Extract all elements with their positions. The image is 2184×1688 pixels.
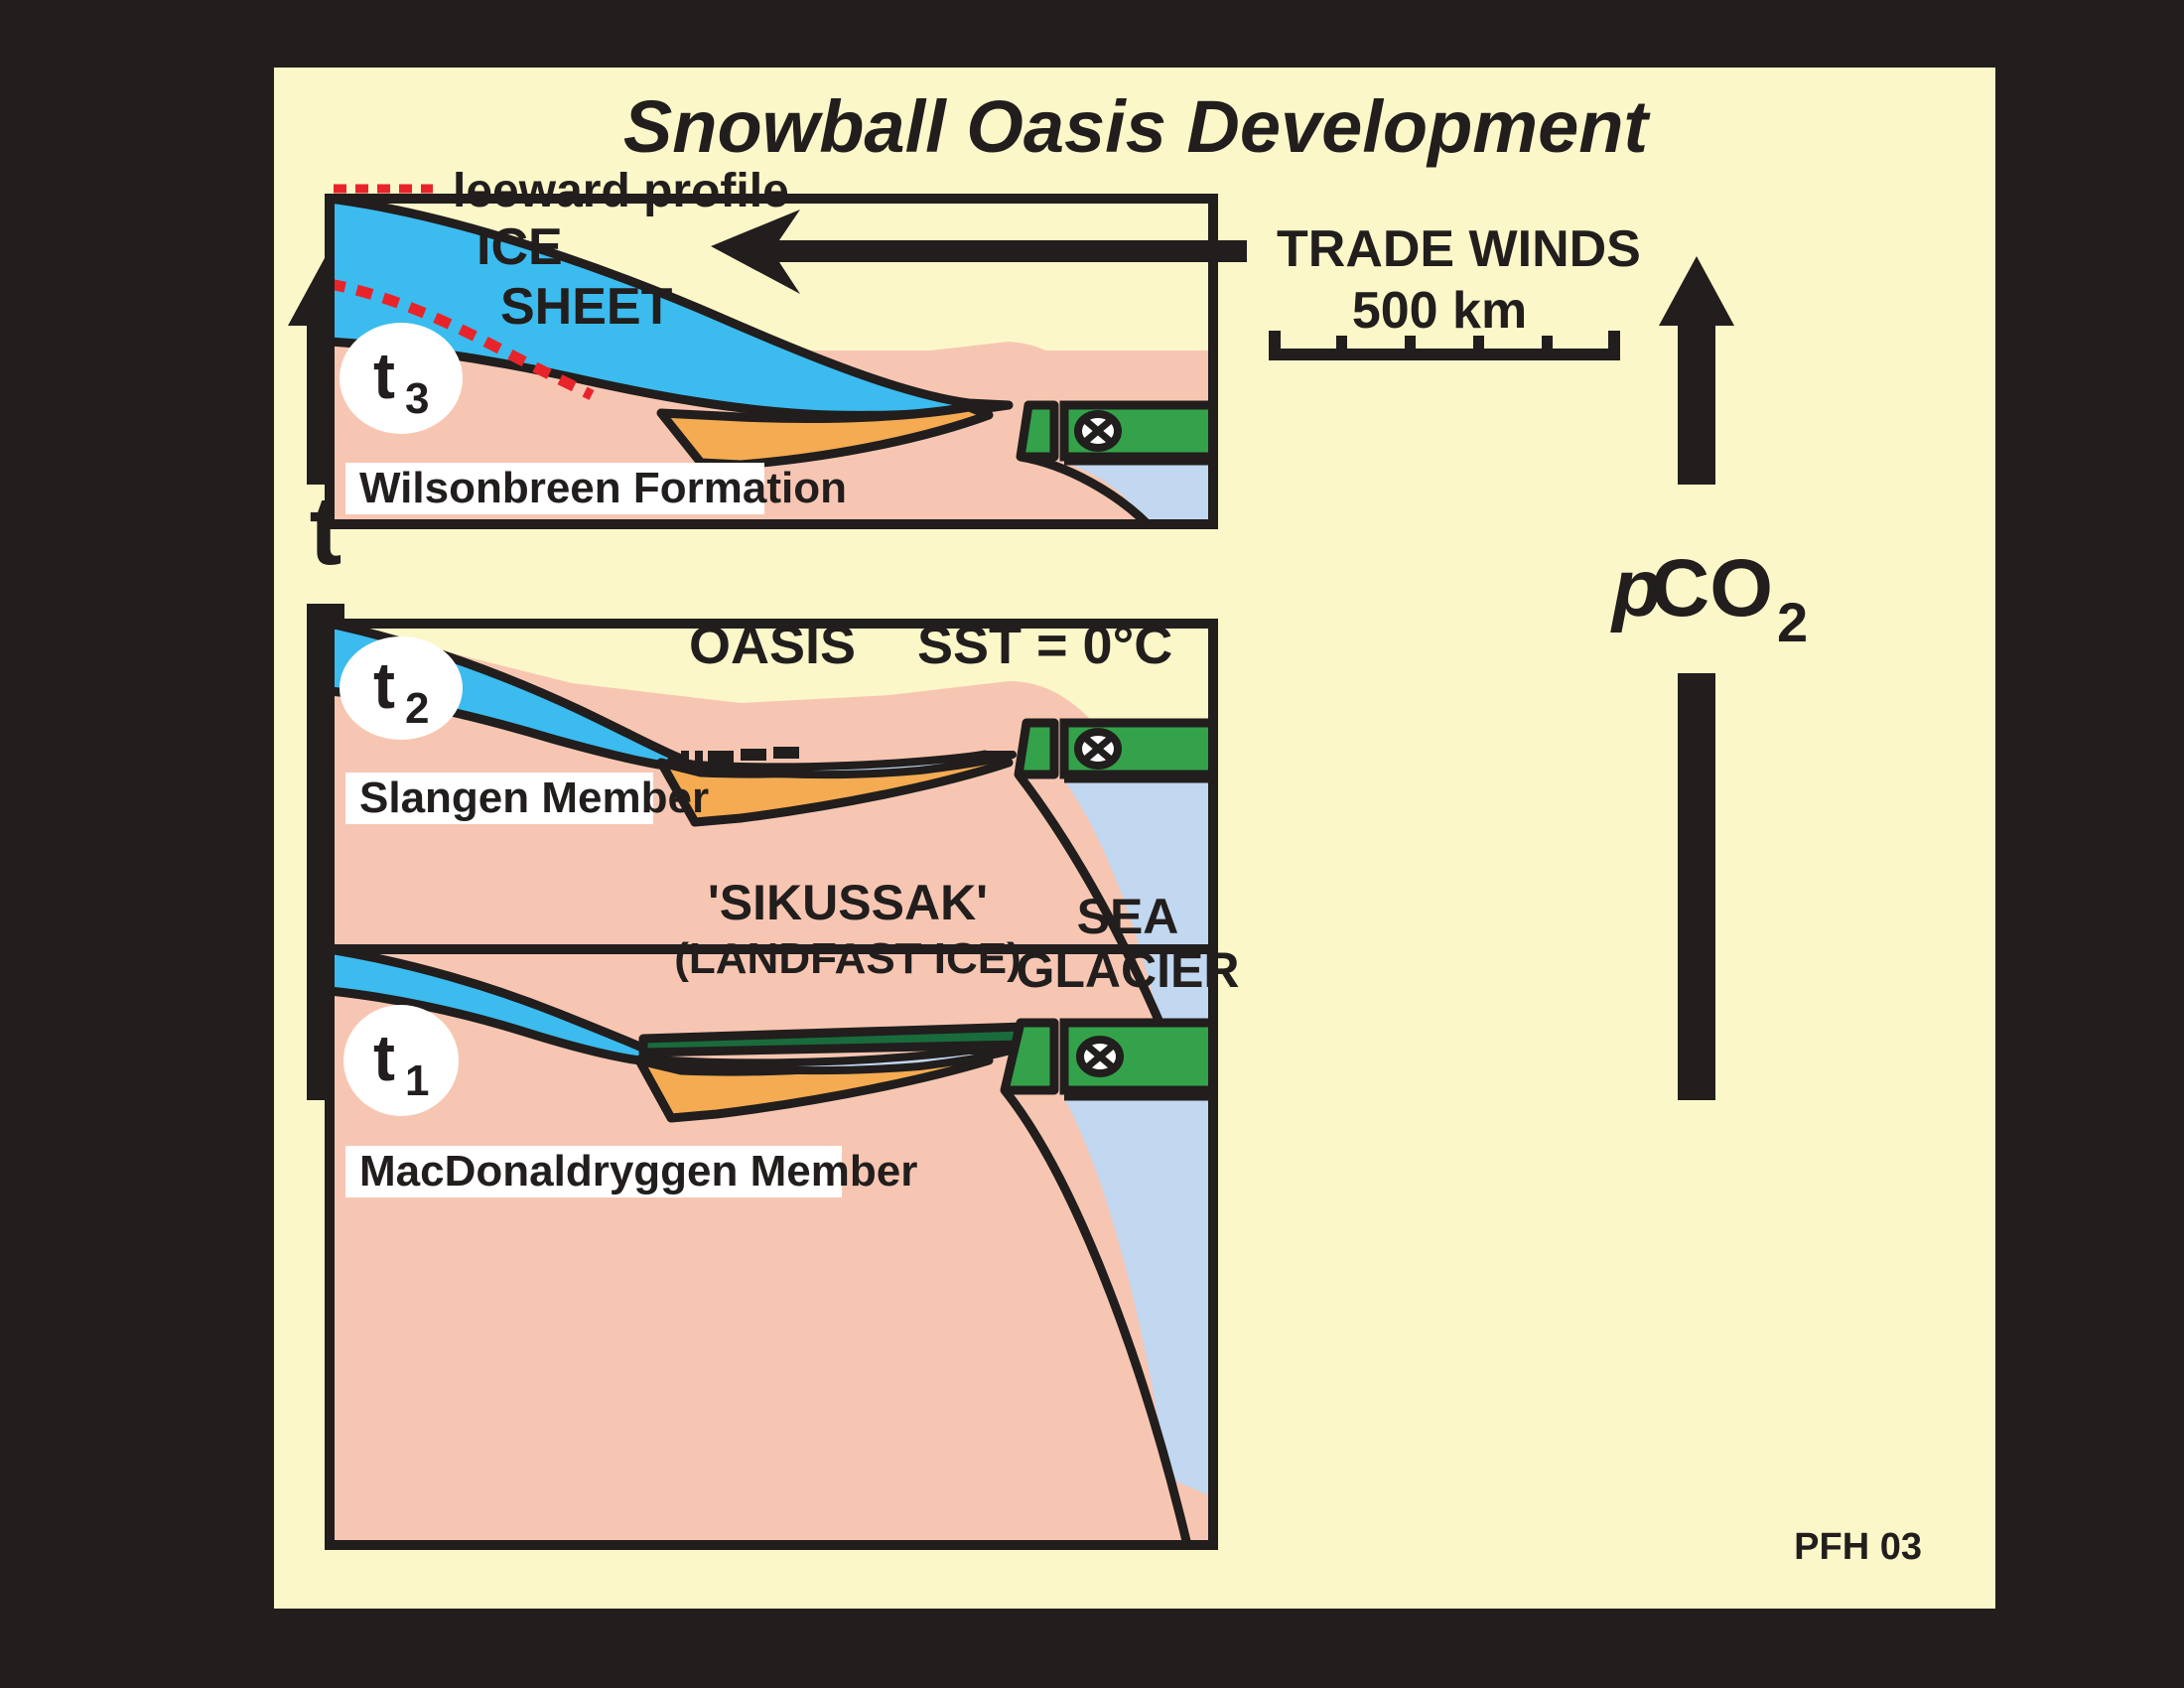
sikussak-line2: (LANDFAST ICE) <box>674 934 1022 983</box>
figure-panel: Snowball Oasis Development leeward profi… <box>274 68 1995 1609</box>
t3-ice-sheet-line2: SHEET <box>500 278 673 336</box>
t3-formation-label: Wilsonbreen Formation <box>359 464 847 512</box>
t2-ice-fragment-4 <box>773 747 799 759</box>
pco2-axis: p CO 2 <box>1610 256 1808 1100</box>
t3-time-marker: t 3 <box>340 323 463 434</box>
t2-flow-symbol <box>1078 732 1118 766</box>
scale-bar-baseline <box>1269 349 1620 360</box>
scale-bar-tick-4 <box>1542 336 1553 360</box>
t2-ice-fragment-0 <box>681 751 689 773</box>
scale-bar-label: 500 km <box>1352 282 1527 340</box>
trade-winds-label: TRADE WINDS <box>1277 220 1641 278</box>
snowball-oasis-diagram: Snowball Oasis Development leeward profi… <box>274 68 1995 1609</box>
scale-bar: 500 km <box>1269 282 1620 360</box>
t2-time-label-base: t <box>373 648 395 722</box>
scale-bar-tick-1 <box>1336 336 1347 360</box>
t1-flow-symbol <box>1080 1040 1120 1073</box>
t2-formation-label: Slangen Member <box>359 774 709 822</box>
figure-stage: Snowball Oasis Development leeward profi… <box>0 0 2184 1688</box>
t1-time-label-base: t <box>373 1021 395 1094</box>
figure-title: Snowball Oasis Development <box>623 85 1652 168</box>
scale-bar-tick-2 <box>1405 336 1416 360</box>
t2-time-bubble <box>340 636 463 740</box>
oasis-label: OASIS <box>689 616 856 675</box>
sikussak-line1: 'SIKUSSAK' <box>708 875 988 930</box>
t2-ice-fragment-3 <box>741 749 766 761</box>
t1-time-label-sub: 1 <box>405 1056 429 1105</box>
scale-bar-tick-5 <box>1608 331 1620 360</box>
t2-time-marker: t 2 <box>340 636 463 740</box>
sea-glacier-line1: SEA <box>1077 889 1179 944</box>
pco2-label-sub: 2 <box>1777 591 1808 653</box>
leeward-profile-label: leeward profile <box>453 165 789 217</box>
t3-sea-glacier-inner <box>1021 405 1054 457</box>
sst-label: SST = 0°C <box>917 616 1172 675</box>
t1-formation-label-group: MacDonaldryggen Member <box>345 1146 917 1197</box>
scale-bar-tick-3 <box>1473 336 1484 360</box>
t3-time-label-sub: 3 <box>405 374 429 423</box>
sikussak-annotation: 'SIKUSSAK' (LANDFAST ICE) <box>674 875 1022 983</box>
t2-ice-fragment-2 <box>708 751 734 763</box>
t1-formation-label: MacDonaldryggen Member <box>359 1147 917 1196</box>
t3-time-label-base: t <box>373 339 395 412</box>
figure-credit: PFH 03 <box>1794 1526 1922 1568</box>
panel-t1: t 1 MacDonaldryggen Member 'SIKUSSAK' (L… <box>330 875 1240 1545</box>
pco2-axis-label: p CO 2 <box>1610 543 1808 653</box>
t2-formation-label-group: Slangen Member <box>345 773 709 824</box>
trade-winds-arrow <box>711 210 1247 294</box>
t2-time-label-sub: 2 <box>405 684 429 733</box>
t2-ice-fragment-1 <box>695 751 703 773</box>
t3-formation-label-group: Wilsonbreen Formation <box>345 463 847 514</box>
t3-flow-symbol <box>1078 414 1118 448</box>
t1-time-marker: t 1 <box>343 1005 459 1116</box>
pco2-label-main: CO <box>1651 543 1773 633</box>
scale-bar-tick-0 <box>1269 331 1281 360</box>
sea-glacier-line2: GLACIER <box>1017 942 1240 998</box>
pco2-axis-shaft-upper <box>1678 326 1715 485</box>
pco2-axis-shaft-lower <box>1678 673 1715 1100</box>
t1-time-bubble <box>343 1005 459 1116</box>
t2-sea-glacier-inner <box>1019 723 1054 774</box>
t3-ice-sheet-line1: ICE <box>477 218 563 276</box>
t3-time-bubble <box>340 323 463 434</box>
